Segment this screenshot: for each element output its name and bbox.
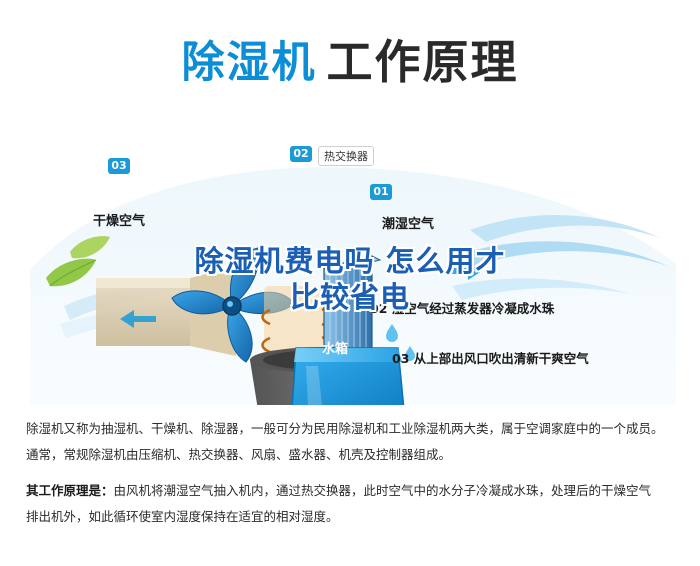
description-block: 除湿机又称为抽湿机、干燥机、除湿器，一般可分为民用除湿机和工业除湿机两大类，属于… (26, 418, 674, 532)
description-paragraph-1: 除湿机又称为抽湿机、干燥机、除湿器，一般可分为民用除湿机和工业除湿机两大类，属于… (26, 418, 674, 440)
infographic-page: 除湿机工作原理 (0, 0, 700, 566)
label-humid-air: 潮湿空气 (382, 213, 434, 232)
step-03-text: 03 从上部出风口吹出清新干爽空气 (392, 348, 589, 367)
label-heat-exchanger: 热交换器 (318, 146, 374, 166)
description-paragraph-2: 通常，常规除湿机由压缩机、热交换器、风扇、盛水器、机壳及控制器组成。 (26, 444, 674, 466)
dehumidifier-diagram: 03 干燥空气 02 热交换器 01 潮湿空气 水箱 02 湿空气经过蒸发器冷凝… (0, 110, 700, 405)
page-title-highlight: 除湿机 (182, 38, 317, 88)
description-paragraph-4: 排出机外，如此循环使室内湿度保持在适宜的相对湿度。 (26, 506, 674, 528)
description-paragraph-3: 其工作原理是：由风机将潮湿空气抽入机内，通过热交换器，此时空气中的水分子冷凝成水… (26, 480, 674, 502)
page-title-rest: 工作原理 (327, 35, 519, 89)
badge-02: 02 (290, 146, 312, 162)
label-dry-air: 干燥空气 (93, 210, 145, 229)
badge-01: 01 (370, 184, 392, 200)
page-title: 除湿机工作原理 (0, 26, 700, 92)
label-water-tank: 水箱 (322, 338, 348, 357)
badge-03-left: 03 (108, 158, 130, 174)
description-lead: 其工作原理是： (26, 483, 114, 498)
step-02-text: 02 湿空气经过蒸发器冷凝成水珠 (370, 298, 554, 317)
description-paragraph-3-text: 由风机将潮湿空气抽入机内，通过热交换器，此时空气中的水分子冷凝成水珠，处理后的干… (114, 483, 652, 498)
